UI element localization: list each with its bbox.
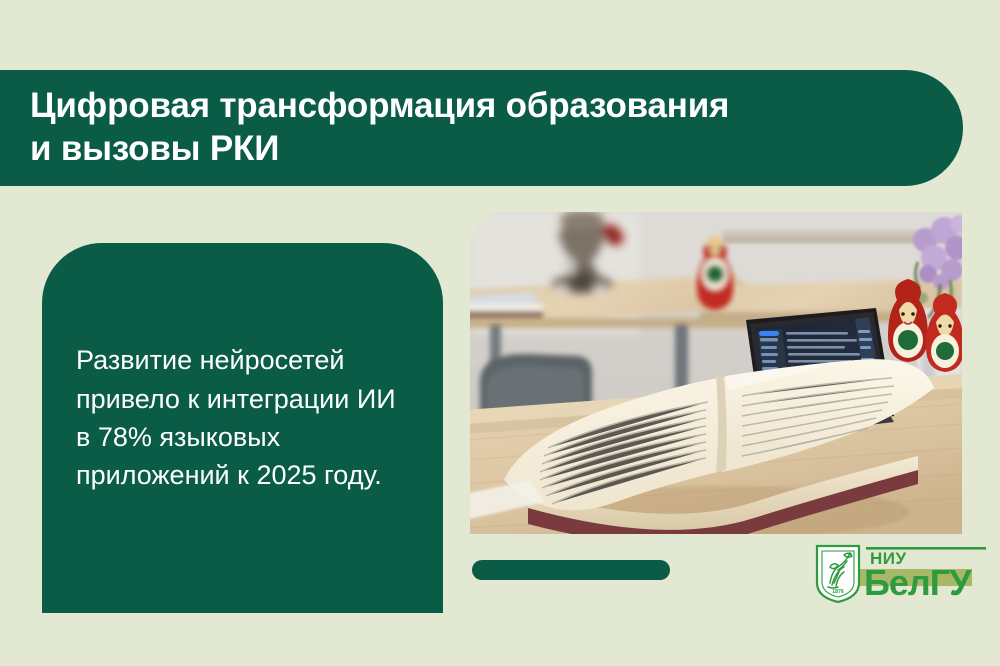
classroom-photo-illustration (470, 212, 962, 534)
pill-divider (472, 560, 670, 580)
classroom-photo (470, 212, 962, 534)
logo-name: БелГУ (864, 562, 972, 603)
coat-of-arms-shield: 1876 (817, 546, 859, 602)
belgu-logo: 1876 НИУ БелГУ (814, 543, 989, 605)
page-title: Цифровая трансформация образования и выз… (30, 85, 729, 170)
statistic-text: Развитие нейросетей привело к интеграции… (42, 341, 443, 494)
emblem-year: 1876 (832, 589, 844, 595)
statistic-text-card: Развитие нейросетей привело к интеграции… (42, 243, 443, 613)
slide-canvas: Цифровая трансформация образования и выз… (0, 0, 1000, 666)
belgu-logo-mark: 1876 НИУ БелГУ (814, 543, 989, 605)
header-bar: Цифровая трансформация образования и выз… (0, 70, 963, 186)
